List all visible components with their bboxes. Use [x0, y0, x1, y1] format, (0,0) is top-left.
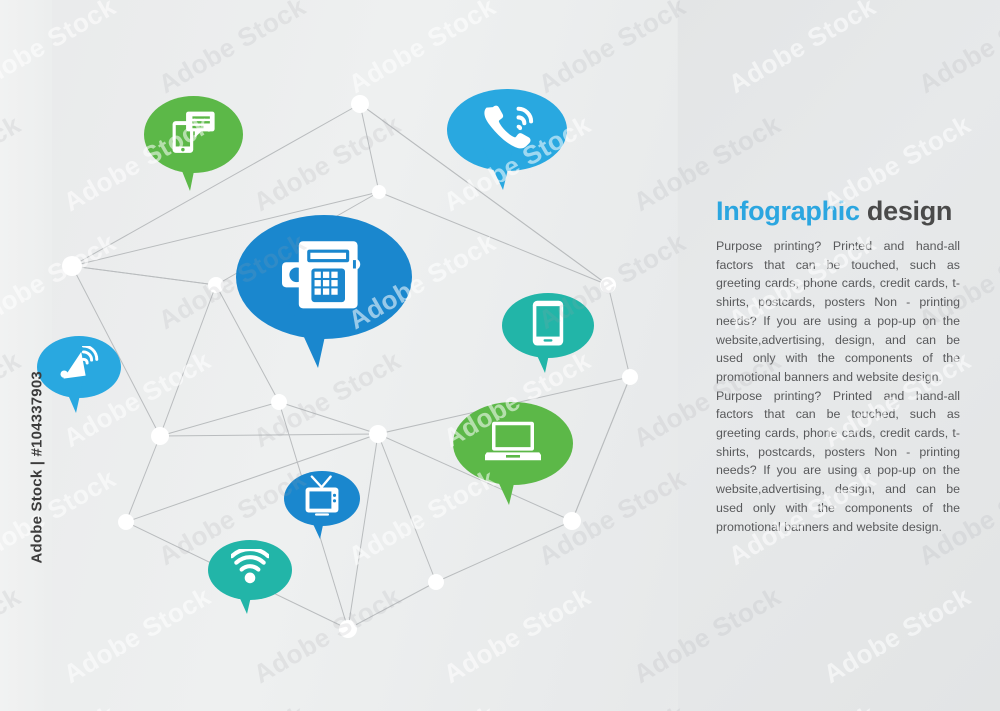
paragraph-2: Purpose printing? Printed and hand-all f…	[716, 387, 960, 537]
bubble-wifi[interactable]	[208, 540, 292, 600]
network-node	[369, 425, 387, 443]
network-nodes	[62, 95, 638, 638]
body-text: Purpose printing? Printed and hand-all f…	[716, 237, 960, 536]
bubble-sms[interactable]	[144, 96, 243, 173]
network-node	[563, 512, 581, 530]
network-node	[208, 277, 224, 293]
fax-machine-icon	[282, 237, 366, 318]
network-edge	[72, 266, 216, 285]
network-edge	[379, 192, 608, 285]
smartphone-message-icon	[171, 110, 217, 159]
network-node	[600, 277, 616, 293]
network-edge	[160, 402, 279, 436]
network-edge	[160, 434, 378, 436]
bubble-signal[interactable]	[37, 336, 121, 398]
network-node	[351, 95, 369, 113]
wifi-icon	[231, 549, 269, 590]
infographic-canvas: Infographic design Purpose printing? Pri…	[0, 0, 1000, 711]
network-node	[428, 574, 444, 590]
network-node	[151, 427, 169, 445]
tablet-icon	[531, 299, 565, 352]
network-edge	[160, 285, 216, 436]
stock-caption: Adobe Stock | #104337903	[29, 364, 46, 564]
network-edge	[608, 285, 630, 377]
page-title: Infographic design	[716, 196, 966, 227]
network-edge	[348, 582, 436, 629]
network-edge	[572, 377, 630, 521]
network-node	[62, 256, 82, 276]
network-node	[118, 514, 134, 530]
satellite-signal-icon	[59, 346, 99, 388]
title-rest: design	[867, 196, 952, 226]
bubble-tail	[489, 462, 519, 505]
network-node	[339, 620, 357, 638]
network-node	[271, 394, 287, 410]
network-edge	[436, 521, 572, 582]
network-edge	[360, 104, 379, 192]
phone-ringing-icon	[480, 103, 534, 156]
network-edge	[126, 436, 160, 522]
bubble-fax[interactable]	[236, 215, 412, 339]
network-node	[622, 369, 638, 385]
network-node	[372, 185, 386, 199]
television-icon	[304, 475, 340, 522]
bubble-tv[interactable]	[284, 471, 360, 526]
bubble-laptop[interactable]	[453, 402, 573, 485]
laptop-icon	[485, 420, 541, 467]
title-accent: Infographic	[716, 196, 860, 226]
bubble-tablet[interactable]	[502, 293, 594, 358]
network-edge	[279, 402, 378, 434]
network-edge	[348, 434, 378, 629]
paragraph-1: Purpose printing? Printed and hand-all f…	[716, 237, 960, 387]
bubble-call[interactable]	[447, 89, 567, 171]
